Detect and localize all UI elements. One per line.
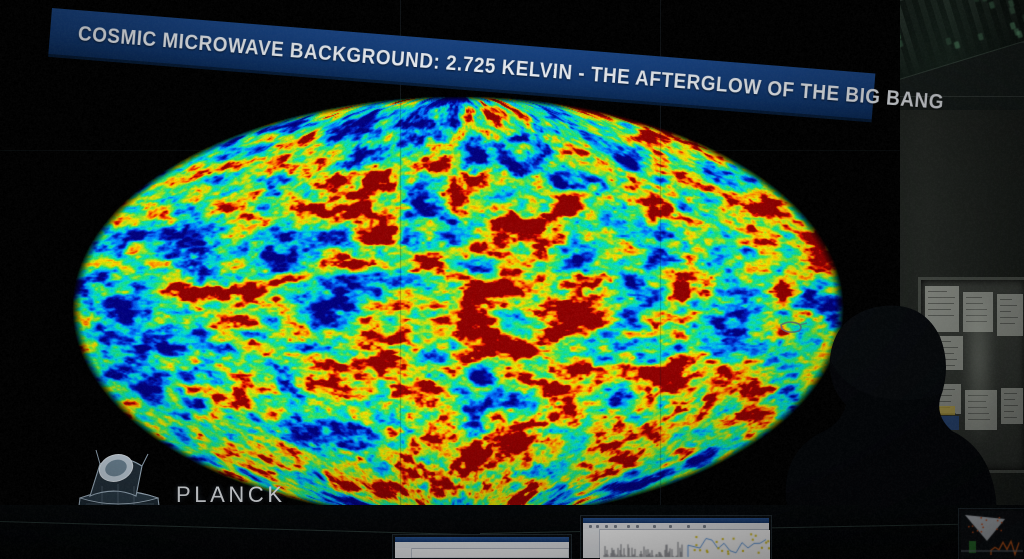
right-workstation-monitor[interactable] [958,508,1024,559]
center-workstation-monitor[interactable] [580,515,772,559]
eyeglasses-icon [779,318,823,336]
screenshot-root: COSMIC MICROWAVE BACKGROUND: 2.725 KELVI… [0,0,1024,559]
left-workstation-monitor[interactable] [392,534,572,559]
